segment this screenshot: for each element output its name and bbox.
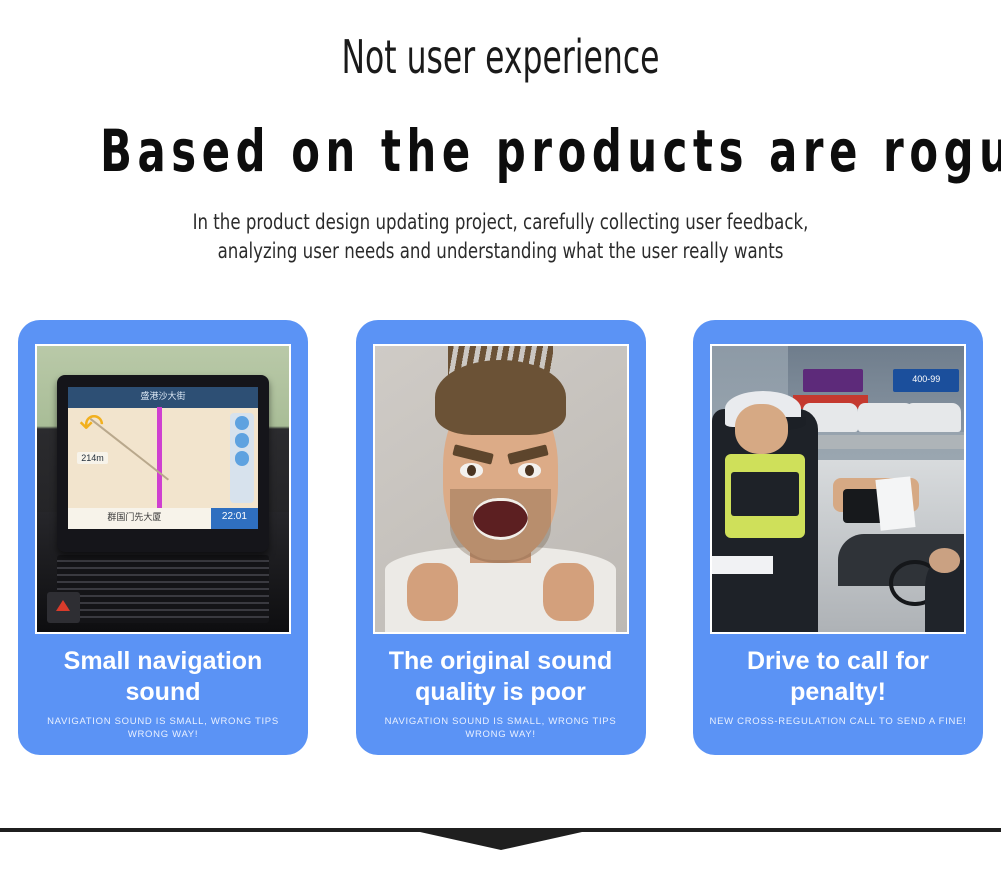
page-subtitle-line-2: analyzing user needs and understanding w… (60, 237, 941, 266)
gps-navigation-photo: ↶ 214m 盛港沙大街 群国门先大厦 22:01 (35, 344, 291, 634)
storefront-sign-blue: 400-99 (893, 369, 959, 392)
air-vent-shape (57, 555, 269, 624)
card-title: Drive to call for penalty! (710, 646, 966, 708)
map-side-controls (230, 413, 255, 504)
hazard-button-icon (47, 592, 80, 623)
hi-vis-vest (725, 454, 805, 539)
map-control-icon (235, 416, 250, 431)
down-chevron-icon (420, 832, 582, 850)
page-subtitle-line-1: In the product design updating project, … (60, 208, 941, 237)
card-title: The original sound quality is poor (373, 646, 629, 708)
card-drive-to-call-penalty[interactable]: 400-99 (693, 320, 983, 755)
police-officer-figure (712, 409, 818, 632)
page-subtitle: In the product design updating project, … (60, 208, 941, 266)
device-screen: ↶ 214m 盛港沙大街 群国门先大厦 22:01 (68, 387, 259, 529)
fist-right (543, 563, 593, 620)
eye-right (518, 463, 541, 477)
officer-head (735, 404, 788, 453)
promo-page: Not user experience Based on the product… (0, 0, 1001, 884)
card-original-sound-quality[interactable]: The original sound quality is poor NAVIG… (356, 320, 646, 755)
map-street-label: 盛港沙大街 (68, 387, 259, 408)
card-title: Small navigation sound (35, 646, 291, 708)
card-subtitle: NEW CROSS-REGULATION CALL TO SEND A FINE… (707, 715, 969, 728)
hair-shape (435, 360, 566, 434)
feature-card-row: ↶ 214m 盛港沙大街 群国门先大厦 22:01 (18, 320, 983, 755)
distance-label: 214m (77, 452, 108, 464)
driver-figure (925, 560, 964, 632)
clock-label: 22:01 (211, 508, 259, 529)
page-title: Based on the products are rogue! (100, 122, 901, 180)
fist-left (407, 563, 457, 620)
device-bezel: ↶ 214m 盛港沙大街 群国门先大厦 22:01 (57, 375, 269, 552)
route-line (157, 407, 162, 509)
angry-man-photo (373, 344, 629, 634)
traffic-police-photo: 400-99 (710, 344, 966, 634)
page-eyebrow: Not user experience (120, 34, 881, 80)
duty-belt (712, 556, 773, 574)
card-subtitle: NAVIGATION SOUND IS SMALL, WRONG TIPS WR… (370, 715, 632, 741)
storefront-sign-purple (803, 369, 863, 392)
eye-left (460, 463, 483, 477)
ticket-slip (876, 476, 916, 531)
card-small-navigation-sound[interactable]: ↶ 214m 盛港沙大街 群国门先大厦 22:01 (18, 320, 308, 755)
turn-arrow-icon: ↶ (79, 411, 121, 454)
card-subtitle: NAVIGATION SOUND IS SMALL, WRONG TIPS WR… (32, 715, 294, 741)
map-destination-label: 群国门先大厦 (68, 508, 201, 529)
background-car (906, 403, 961, 432)
map-control-icon (235, 451, 250, 466)
map-control-icon (235, 433, 250, 448)
